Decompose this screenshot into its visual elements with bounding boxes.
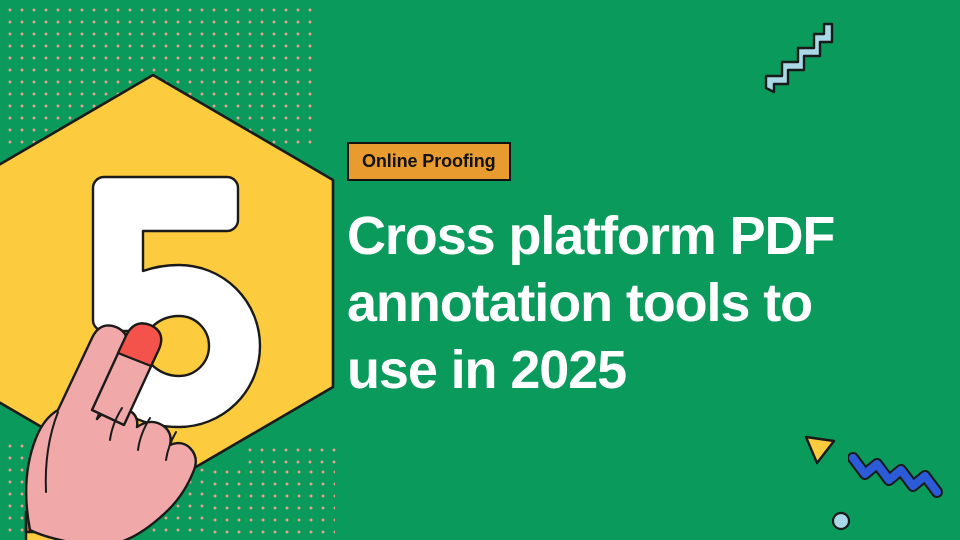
circle-icon [831,511,851,531]
triangle-icon [803,432,837,466]
title-line-3: use in 2025 [347,337,887,404]
hero-illustration [0,60,360,540]
zigzag-icon [848,452,944,504]
slide-canvas: Online Proofing Cross platform PDF annot… [0,0,960,540]
page-title: Cross platform PDF annotation tools to u… [347,203,887,404]
category-badge[interactable]: Online Proofing [347,142,511,181]
text-content-block: Online Proofing Cross platform PDF annot… [347,142,907,404]
staircase-icon [762,18,838,96]
title-line-1: Cross platform PDF [347,203,887,270]
title-line-2: annotation tools to [347,270,887,337]
